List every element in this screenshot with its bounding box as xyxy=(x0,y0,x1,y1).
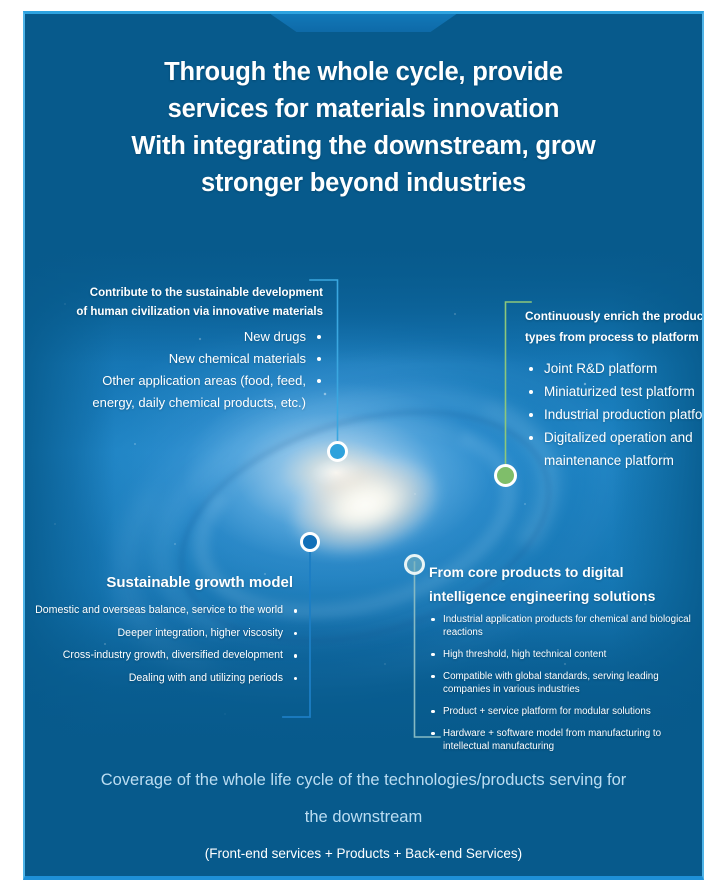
block-top-left: Contribute to the sustainable developmen… xyxy=(55,284,323,414)
list-item: Other application areas (food, feed, xyxy=(55,370,323,392)
node-marker-top-left[interactable] xyxy=(327,441,348,462)
list-item: Dealing with and utilizing periods xyxy=(35,671,299,687)
footer: Coverage of the whole life cycle of the … xyxy=(25,762,702,866)
list-item: Deeper integration, higher viscosity xyxy=(35,626,299,642)
block-top-left-title-line-1: Contribute to the sustainable developmen… xyxy=(55,284,323,303)
node-marker-bottom-right[interactable] xyxy=(404,554,425,575)
list-item: Domestic and overseas balance, service t… xyxy=(35,603,299,619)
footer-main: Coverage of the whole life cycle of the … xyxy=(53,762,674,836)
list-item: Joint R&D platform xyxy=(525,357,704,380)
block-top-right-title-line-1: Continuously enrich the product xyxy=(525,306,704,327)
infographic-panel: Through the whole cycle, provide service… xyxy=(23,11,704,880)
list-item: Industrial application products for chem… xyxy=(429,613,699,639)
block-bottom-right-title-line-2: intelligence engineering solutions xyxy=(429,584,699,608)
block-top-left-list: New drugs New chemical materials Other a… xyxy=(55,326,323,414)
headline: Through the whole cycle, provide service… xyxy=(25,54,702,202)
headline-line-1: Through the whole cycle, provide xyxy=(59,54,668,91)
node-marker-bottom-left[interactable] xyxy=(300,532,320,552)
list-item: Product + service platform for modular s… xyxy=(429,705,699,718)
block-bottom-left-title: Sustainable growth model xyxy=(35,572,299,594)
list-item: energy, daily chemical products, etc.) xyxy=(55,392,323,414)
list-item: New chemical materials xyxy=(55,348,323,370)
block-top-right: Continuously enrich the product types fr… xyxy=(525,306,704,472)
block-top-left-title: Contribute to the sustainable developmen… xyxy=(55,284,323,321)
list-item: maintenance platform xyxy=(525,449,704,472)
block-bottom-right-title-line-1: From core products to digital xyxy=(429,560,699,584)
list-item: Cross-industry growth, diversified devel… xyxy=(35,648,299,664)
node-marker-top-right[interactable] xyxy=(494,464,517,487)
top-tab-shape xyxy=(271,14,457,32)
list-item: New drugs xyxy=(55,326,323,348)
block-bottom-right-list: Industrial application products for chem… xyxy=(429,613,699,753)
block-top-left-title-line-2: of human civilization via innovative mat… xyxy=(55,303,323,322)
footer-main-line-2: the downstream xyxy=(53,799,674,836)
headline-line-4: stronger beyond industries xyxy=(59,165,668,202)
list-item: High threshold, high technical content xyxy=(429,648,699,661)
headline-line-3: With integrating the downstream, grow xyxy=(59,128,668,165)
block-bottom-left: Sustainable growth model Domestic and ov… xyxy=(35,572,299,693)
list-item: Miniaturized test platform xyxy=(525,380,704,403)
block-bottom-right-title: From core products to digital intelligen… xyxy=(429,560,699,608)
list-item: Hardware + software model from manufactu… xyxy=(429,727,699,753)
block-top-right-title-line-2: types from process to platform xyxy=(525,327,704,348)
slide-root: Through the whole cycle, provide service… xyxy=(0,0,726,896)
headline-line-2: services for materials innovation xyxy=(59,91,668,128)
block-top-right-list: Joint R&D platform Miniaturized test pla… xyxy=(525,357,704,472)
footer-main-line-1: Coverage of the whole life cycle of the … xyxy=(53,762,674,799)
block-bottom-left-list: Domestic and overseas balance, service t… xyxy=(35,603,299,686)
block-bottom-right: From core products to digital intelligen… xyxy=(429,560,699,762)
block-top-right-title: Continuously enrich the product types fr… xyxy=(525,306,704,348)
list-item: Compatible with global standards, servin… xyxy=(429,670,699,696)
list-item: Industrial production platform xyxy=(525,403,704,426)
list-item: Digitalized operation and xyxy=(525,426,704,449)
footer-sub: (Front-end services + Products + Back-en… xyxy=(53,842,674,866)
